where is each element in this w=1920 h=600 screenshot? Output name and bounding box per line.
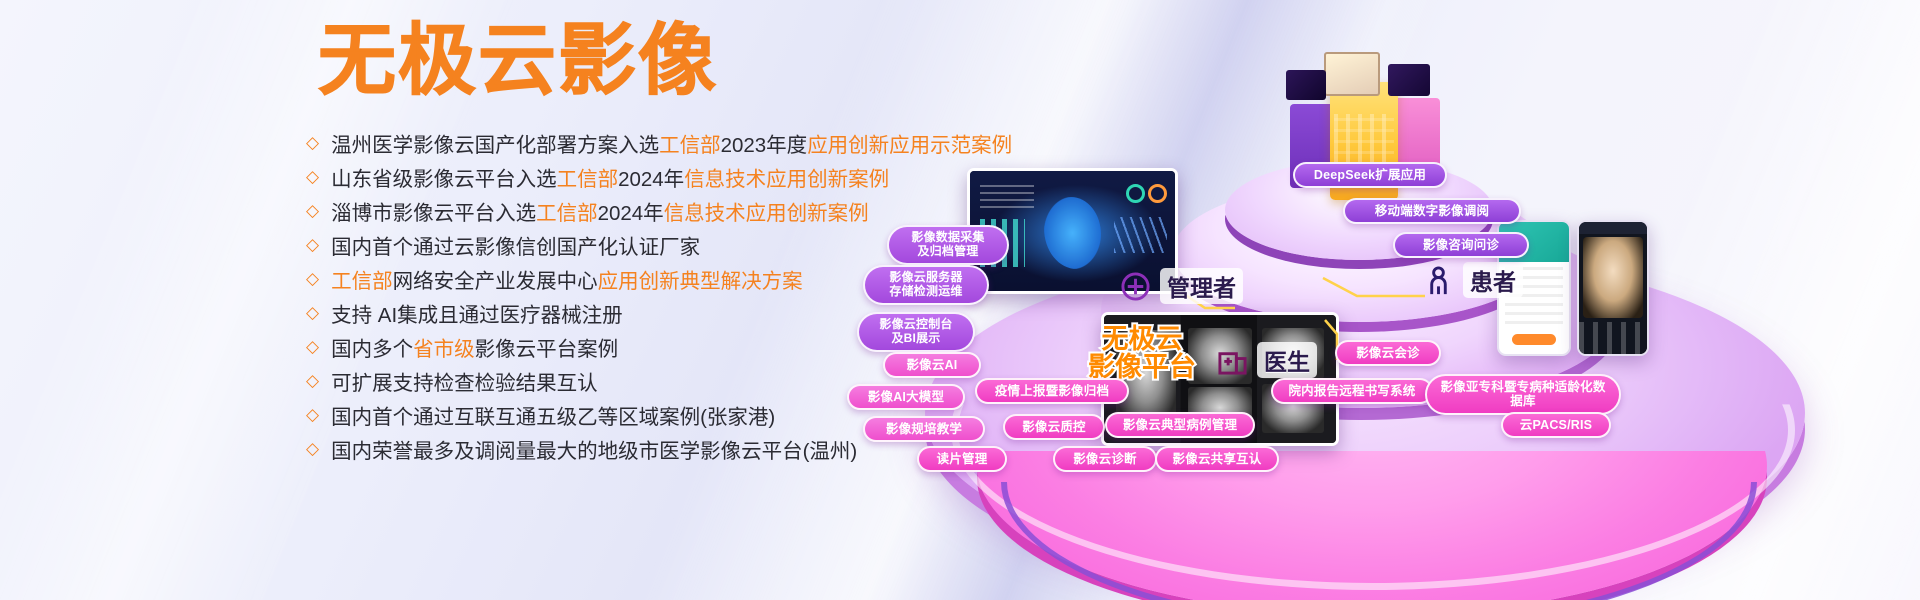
pill-capability[interactable]: 影像云服务器 存储检测运维 [863, 265, 989, 305]
highlight-segment: 支持 AI集成且通过医疗器械注册 [331, 304, 623, 327]
diamond-bullet-icon: ◇ [306, 372, 319, 389]
pill-capability[interactable]: 影像云控制台 及BI展示 [857, 312, 975, 352]
pill-capability[interactable]: 影像云会诊 [1335, 340, 1441, 366]
pill-capability[interactable]: 云PACS/RIS [1501, 412, 1611, 438]
highlight-segment: 工信部 [557, 168, 619, 191]
diamond-bullet-icon: ◇ [306, 270, 319, 287]
highlight-segment: 国内首个通过云影像信创国产化认证厂家 [331, 236, 700, 259]
role-administrator: 管理者 [1120, 268, 1243, 304]
pill-capability[interactable]: 影像云共享互认 [1155, 446, 1279, 472]
central-tower [1290, 52, 1440, 217]
tower-screen-right [1388, 64, 1430, 96]
pill-capability[interactable]: 影像云诊断 [1053, 446, 1157, 472]
highlight-segment: 2024年 [598, 202, 664, 225]
highlight-segment: 影像云平台案例 [475, 338, 619, 361]
pill-capability[interactable]: 影像数据采集 及归档管理 [887, 225, 1009, 265]
role-label: 患者 [1463, 262, 1523, 298]
pill-capability[interactable]: 影像亚专科暨专病种适龄化数据库 [1425, 374, 1621, 415]
pill-capability[interactable]: 读片管理 [917, 446, 1007, 472]
highlight-segment: 国内首个通过互联互通五级乙等区域案例(张家港) [331, 406, 775, 429]
pill-capability[interactable]: 院内报告远程书写系统 [1271, 378, 1433, 404]
highlight-text: 支持 AI集成且通过医疗器械注册 [331, 298, 623, 328]
promo-banner: 无极云影像 ◇温州医学影像云国产化部署方案入选工信部2023年度应用创新应用示范… [0, 0, 1920, 600]
center-label-line-1: 无极云 [1057, 326, 1227, 354]
role-patient: 患者 [1423, 262, 1523, 298]
highlight-segment: 工信部 [659, 134, 721, 157]
diamond-bullet-icon: ◇ [306, 406, 319, 423]
highlight-segment: 2024年 [618, 168, 684, 191]
highlight-text: 国内首个通过互联互通五级乙等区域案例(张家港) [331, 400, 775, 430]
pill-capability[interactable]: 影像规培教学 [863, 416, 985, 442]
diamond-bullet-icon: ◇ [306, 304, 319, 321]
role-label: 管理者 [1160, 268, 1243, 304]
highlight-segment: 国内多个 [331, 338, 413, 361]
dashboard-map [1044, 197, 1101, 269]
phone-header [1579, 222, 1647, 234]
dashboard-line-chart [1114, 217, 1167, 253]
highlight-segment: 国内荣誉最多及调阅量最大的地级市医学影像云平台(温州) [331, 440, 857, 463]
highlight-text: 国内荣誉最多及调阅量最大的地级市医学影像云平台(温州) [331, 434, 857, 464]
highlight-segment: 温州医学影像云国产化部署方案入选 [331, 134, 659, 157]
diamond-bullet-icon: ◇ [306, 236, 319, 253]
phone-action-button[interactable] [1512, 334, 1557, 345]
pill-capability[interactable]: 影像咨询问诊 [1393, 232, 1529, 258]
highlight-text: 工信部网络安全产业发展中心应用创新典型解决方案 [331, 264, 803, 294]
diamond-bullet-icon: ◇ [306, 440, 319, 457]
highlight-segment: 可扩展支持检查检验结果互认 [331, 372, 598, 395]
highlight-segment: 工信部 [536, 202, 598, 225]
dashboard-rows [980, 185, 1033, 209]
pill-capability[interactable]: 影像云质控 [1003, 414, 1105, 440]
patient-xray-phone [1577, 220, 1649, 356]
role-label: 医生 [1257, 342, 1317, 378]
highlight-text: 山东省级影像云平台入选工信部2024年信息技术应用创新案例 [331, 162, 889, 192]
plus-circle-icon [1120, 271, 1151, 302]
phone-toolbar [1579, 322, 1647, 354]
highlight-text: 淄博市影像云平台入选工信部2024年信息技术应用创新案例 [331, 196, 869, 226]
highlight-segment: 信息技术应用创新案例 [684, 168, 889, 191]
dashboard-donut-1 [1126, 184, 1145, 203]
diamond-bullet-icon: ◇ [306, 338, 319, 355]
pill-capability[interactable]: 影像云AI [883, 352, 981, 378]
pill-capability[interactable]: 疫情上报暨影像归档 [975, 378, 1129, 404]
dashboard-donut-2 [1148, 184, 1167, 203]
diamond-bullet-icon: ◇ [306, 168, 319, 185]
tower-screen-left [1286, 70, 1326, 100]
phone-xray-image [1583, 237, 1643, 319]
highlight-segment: 网络安全产业发展中心 [393, 270, 598, 293]
highlight-segment: 工信部 [331, 270, 393, 293]
highlight-segment: 省市级 [413, 338, 475, 361]
diamond-bullet-icon: ◇ [306, 134, 319, 151]
highlight-text: 可扩展支持检查检验结果互认 [331, 366, 598, 396]
tower-roof [1324, 52, 1380, 96]
page-title: 无极云影像 [318, 22, 1066, 100]
highlight-segment: 山东省级影像云平台入选 [331, 168, 557, 191]
role-doctor: 医生 [1217, 342, 1317, 378]
pill-capability[interactable]: 影像AI大模型 [847, 384, 965, 410]
platform-diagram: 管理者 患者 医生 无极云 影像平台 影像数据采集 及归档管理 影像云服务器 存… [905, 120, 1920, 600]
highlight-text: 国内首个通过云影像信创国产化认证厂家 [331, 230, 700, 260]
person-icon [1423, 265, 1454, 296]
diamond-bullet-icon: ◇ [306, 202, 319, 219]
highlight-segment: 应用创新典型解决方案 [598, 270, 803, 293]
highlight-segment: 淄博市影像云平台入选 [331, 202, 536, 225]
highlight-segment: 2023年度 [721, 134, 808, 157]
pill-capability[interactable]: 移动端数字影像调阅 [1343, 198, 1521, 224]
highlight-segment: 信息技术应用创新案例 [664, 202, 869, 225]
highlight-text: 国内多个省市级影像云平台案例 [331, 332, 618, 362]
pill-capability[interactable]: 影像云典型病例管理 [1105, 412, 1255, 438]
platform-center-label: 无极云 影像平台 [1057, 326, 1227, 383]
pill-capability[interactable]: DeepSeek扩展应用 [1293, 162, 1447, 188]
